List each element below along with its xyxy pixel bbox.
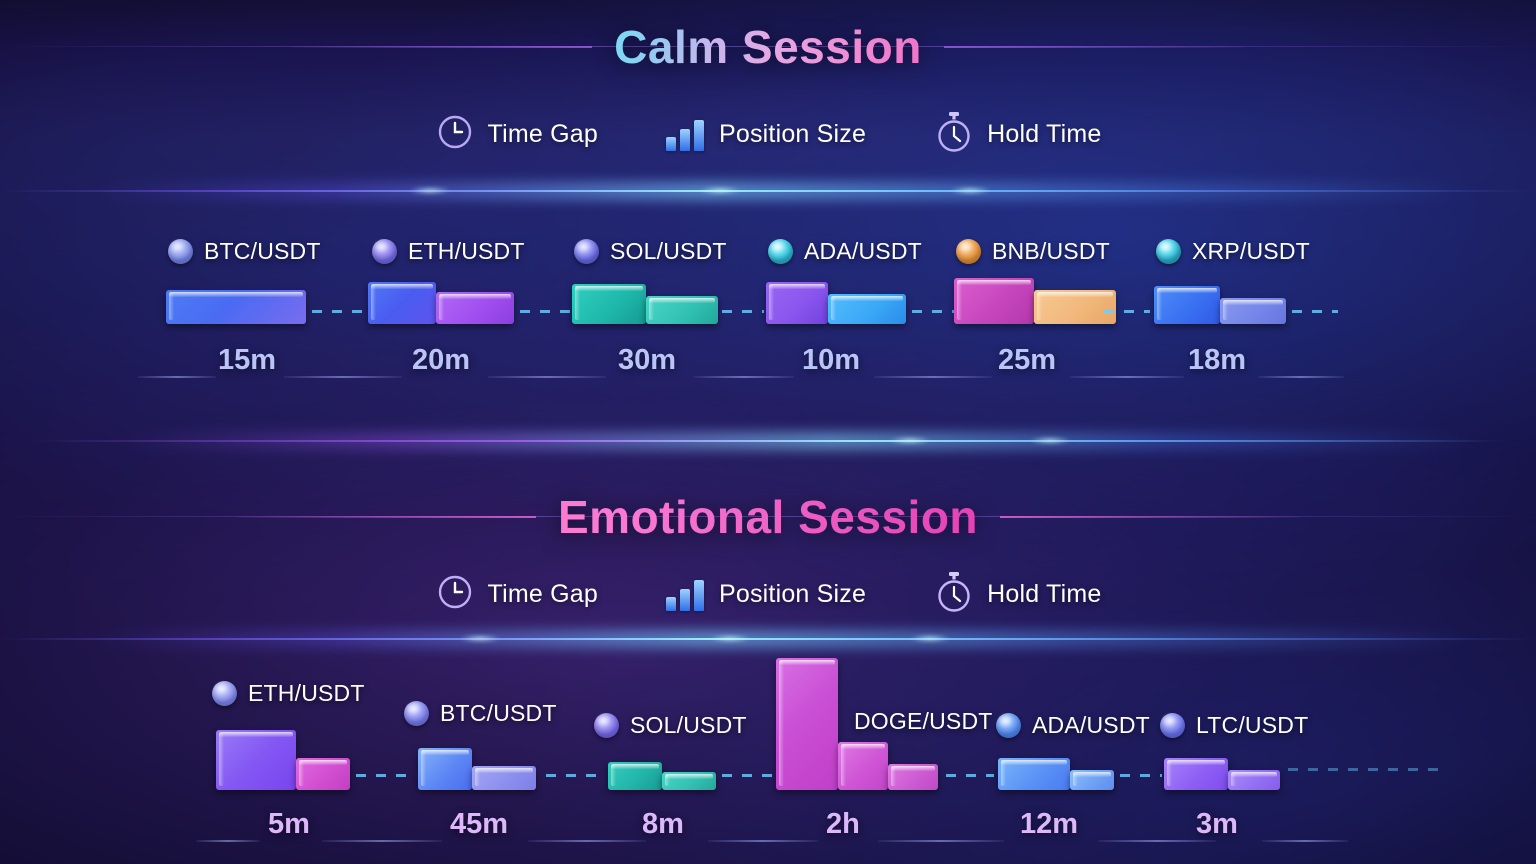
- bar-segment: [1220, 298, 1286, 324]
- bar-group-sol-usdt-emotional: [608, 762, 716, 790]
- bar-segment: [838, 742, 888, 790]
- legend-label: Hold Time: [987, 580, 1101, 609]
- pair-label: BTC/USDT: [204, 238, 321, 265]
- clock-icon: [435, 572, 475, 617]
- title-rule-right: [1000, 516, 1300, 518]
- bar-segment: [368, 282, 436, 324]
- pair-header-ada-usdt-emotional[interactable]: ADA/USDT: [996, 712, 1150, 739]
- bar-group-btc-usdt-emotional: [418, 748, 536, 790]
- value-label-eth: 20m: [412, 344, 470, 377]
- connector-dashes: [1288, 768, 1438, 771]
- pair-dot-icon: [996, 713, 1021, 738]
- pair-header-sol-usdt-emotional[interactable]: SOL/USDT: [594, 712, 747, 739]
- bar-group-bnb-usdt: [954, 278, 1116, 324]
- bar-segment: [1164, 758, 1228, 790]
- value-label-xrp: 18m: [1188, 344, 1246, 377]
- pair-dot-icon: [212, 681, 237, 706]
- pair-header-btc-usdt[interactable]: BTC/USDT: [168, 238, 321, 265]
- title-rule-right: [944, 46, 1244, 48]
- bar-group-eth-usdt: [368, 282, 514, 324]
- bar-segment: [1034, 290, 1116, 324]
- legend-item-hold-time[interactable]: Hold Time: [934, 110, 1101, 159]
- pair-label: SOL/USDT: [630, 712, 747, 739]
- pair-label: BNB/USDT: [992, 238, 1110, 265]
- pair-dot-icon: [574, 239, 599, 264]
- pair-header-eth-usdt-emotional[interactable]: ETH/USDT: [212, 680, 365, 707]
- pair-header-bnb-usdt[interactable]: BNB/USDT: [956, 238, 1110, 265]
- pair-header-btc-usdt-emotional[interactable]: BTC/USDT: [404, 700, 557, 727]
- pair-header-xrp-usdt[interactable]: XRP/USDT: [1156, 238, 1310, 265]
- legend-label: Position Size: [719, 120, 866, 149]
- bar-segment: [436, 292, 514, 324]
- axis-tick: [1258, 376, 1344, 378]
- axis-tick: [878, 840, 1004, 842]
- pair-header-ltc-usdt-emotional[interactable]: LTC/USDT: [1160, 712, 1308, 739]
- bar-group-btc-usdt: [166, 290, 306, 324]
- legend-calm: Time Gap Position Size Hold Time: [0, 110, 1536, 159]
- legend-item-hold-time[interactable]: Hold Time: [934, 570, 1101, 619]
- axis-tick: [874, 376, 992, 378]
- legend-item-time-gap[interactable]: Time Gap: [435, 572, 598, 617]
- bar-segment: [1070, 770, 1114, 790]
- connector-dashes: [1104, 310, 1150, 313]
- bar-segment: [1228, 770, 1280, 790]
- bar-segment: [608, 762, 662, 790]
- pair-label: ETH/USDT: [248, 680, 365, 707]
- value-label-ada: 10m: [802, 344, 860, 377]
- bar-segment: [572, 284, 646, 324]
- axis-tick: [1262, 840, 1348, 842]
- pair-label: LTC/USDT: [1196, 712, 1308, 739]
- section-title-calm: Calm Session: [592, 20, 944, 74]
- connector-dashes: [946, 774, 994, 777]
- stopwatch-icon: [934, 570, 974, 619]
- value-label-sol: 30m: [618, 344, 676, 377]
- value-label-ltc-emotional: 3m: [1196, 808, 1238, 841]
- connector-dashes: [912, 310, 954, 313]
- bar-segment: [954, 278, 1034, 324]
- title-rule-left: [236, 516, 536, 518]
- bar-segment: [296, 758, 350, 790]
- bar-chart-icon: [666, 579, 706, 611]
- pair-label: ETH/USDT: [408, 238, 525, 265]
- connector-dashes: [546, 774, 598, 777]
- legend-label: Hold Time: [987, 120, 1101, 149]
- pair-label: XRP/USDT: [1192, 238, 1310, 265]
- pair-dot-icon: [1160, 713, 1185, 738]
- pair-dot-icon: [372, 239, 397, 264]
- pair-label: ADA/USDT: [1032, 712, 1150, 739]
- pair-header-eth-usdt[interactable]: ETH/USDT: [372, 238, 525, 265]
- pair-label: ADA/USDT: [804, 238, 922, 265]
- clock-icon: [435, 112, 475, 157]
- pair-dot-icon: [768, 239, 793, 264]
- bar-segment: [472, 766, 536, 790]
- section-title-emotional: Emotional Session: [536, 490, 1000, 544]
- axis-tick: [528, 840, 646, 842]
- value-label-eth-emotional: 5m: [268, 808, 310, 841]
- stopwatch-icon: [934, 110, 974, 159]
- bar-group-ltc-usdt-emotional: [1164, 758, 1280, 790]
- pair-label: BTC/USDT: [440, 700, 557, 727]
- pair-header-ada-usdt[interactable]: ADA/USDT: [768, 238, 922, 265]
- legend-item-position-size[interactable]: Position Size: [666, 579, 866, 611]
- bar-segment: [216, 730, 296, 790]
- value-label-ada-emotional: 12m: [1020, 808, 1078, 841]
- axis-tick: [488, 376, 606, 378]
- legend-emotional: Time Gap Position Size Hold Time: [0, 570, 1536, 619]
- axis-tick: [138, 376, 216, 378]
- legend-item-time-gap[interactable]: Time Gap: [435, 112, 598, 157]
- section-header-emotional: Emotional Session: [0, 490, 1536, 544]
- connector-dashes: [1120, 774, 1162, 777]
- pair-header-sol-usdt[interactable]: SOL/USDT: [574, 238, 727, 265]
- bar-segment: [828, 294, 906, 324]
- axis-tick: [1070, 376, 1184, 378]
- bar-segment: [166, 290, 306, 324]
- bar-segment: [646, 296, 718, 324]
- pair-dot-icon: [1156, 239, 1181, 264]
- connector-dashes: [312, 310, 366, 313]
- axis-tick: [322, 840, 442, 842]
- connector-dashes: [722, 774, 774, 777]
- axis-tick: [284, 376, 402, 378]
- bar-chart-icon: [666, 119, 706, 151]
- legend-label: Position Size: [719, 580, 866, 609]
- legend-item-position-size[interactable]: Position Size: [666, 119, 866, 151]
- bar-segment: [418, 748, 472, 790]
- pair-dot-icon: [956, 239, 981, 264]
- bar-group-xrp-usdt: [1154, 286, 1286, 324]
- bar-segment: [1154, 286, 1220, 324]
- bar-group-sol-usdt: [572, 284, 718, 324]
- value-label-doge-emotional: 2h: [826, 808, 860, 841]
- axis-tick: [694, 376, 794, 378]
- connector-dashes: [722, 310, 764, 313]
- pair-dot-icon: [594, 713, 619, 738]
- bar-group-doge-usdt-emotional: [776, 658, 938, 790]
- section-header-calm: Calm Session: [0, 20, 1536, 74]
- bar-segment: [776, 658, 838, 790]
- bar-segment: [766, 282, 828, 324]
- connector-dashes: [520, 310, 570, 313]
- bar-segment: [998, 758, 1070, 790]
- bar-group-ada-usdt: [766, 282, 906, 324]
- legend-label: Time Gap: [488, 120, 598, 149]
- title-rule-left: [292, 46, 592, 48]
- bar-segment: [662, 772, 716, 790]
- axis-tick: [708, 840, 818, 842]
- legend-label: Time Gap: [488, 580, 598, 609]
- value-label-sol-emotional: 8m: [642, 808, 684, 841]
- value-label-btc: 15m: [218, 344, 276, 377]
- connector-dashes: [356, 774, 408, 777]
- bar-group-eth-usdt-emotional: [216, 730, 350, 790]
- connector-dashes: [1292, 310, 1338, 313]
- pair-dot-icon: [404, 701, 429, 726]
- pair-label: SOL/USDT: [610, 238, 727, 265]
- pair-dot-icon: [168, 239, 193, 264]
- bar-group-ada-usdt-emotional: [998, 758, 1114, 790]
- axis-tick: [196, 840, 260, 842]
- bar-segment: [888, 764, 938, 790]
- value-label-btc-emotional: 45m: [450, 808, 508, 841]
- value-label-bnb: 25m: [998, 344, 1056, 377]
